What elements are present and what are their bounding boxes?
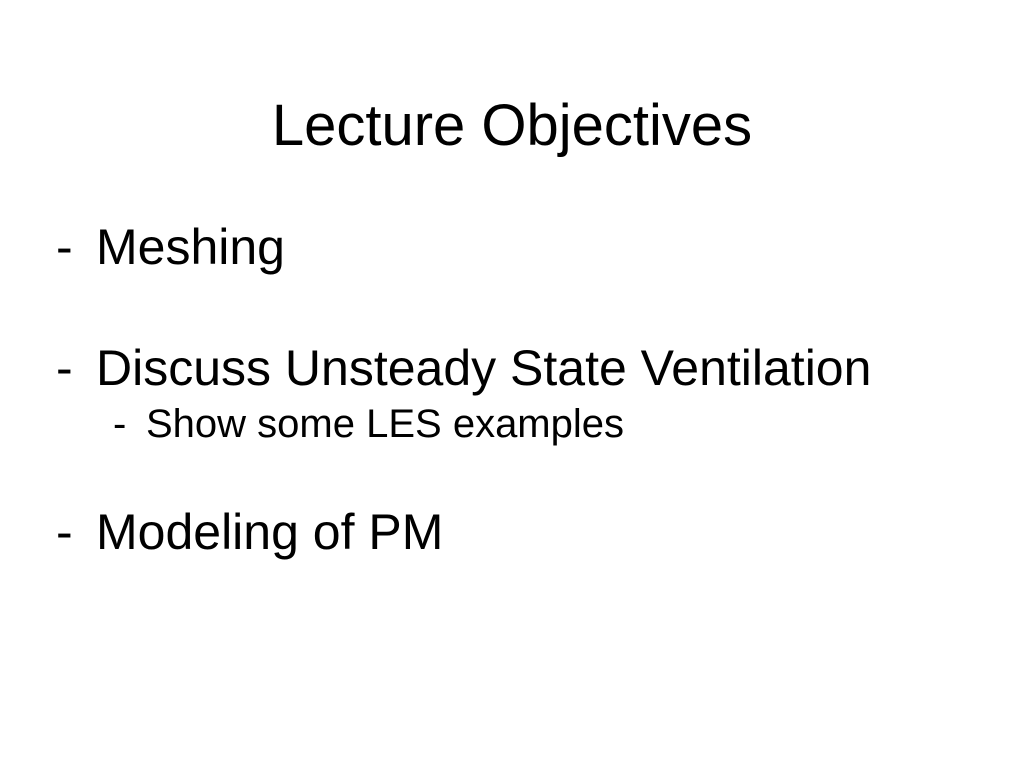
list-item: - Discuss Unsteady State Ventilation <box>56 343 871 393</box>
dash-bullet-icon: - <box>56 222 96 272</box>
dash-bullet-icon: - <box>113 404 146 444</box>
bullet-list: - Meshing - Discuss Unsteady State Venti… <box>0 0 1024 768</box>
dash-bullet-icon: - <box>56 507 96 557</box>
list-item: - Modeling of PM <box>56 507 443 557</box>
dash-bullet-icon: - <box>56 343 96 393</box>
list-item-label: Discuss Unsteady State Ventilation <box>96 343 871 393</box>
presentation-slide: Lecture Objectives - Meshing - Discuss U… <box>0 0 1024 768</box>
list-item-label: Modeling of PM <box>96 507 443 557</box>
sub-list-item-label: Show some LES examples <box>146 404 624 444</box>
sub-list-item: - Show some LES examples <box>113 404 624 444</box>
list-item-label: Meshing <box>96 222 285 272</box>
list-item: - Meshing <box>56 222 285 272</box>
